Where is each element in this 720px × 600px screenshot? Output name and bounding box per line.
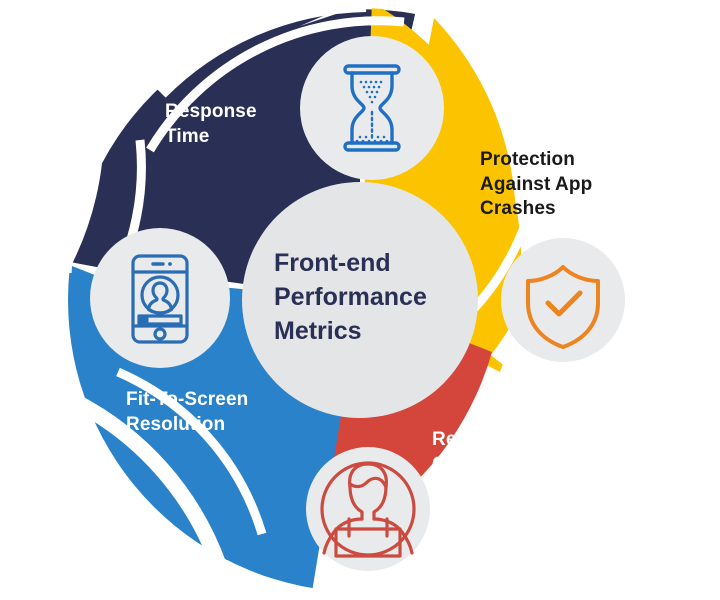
segment-label-response-time: Response Time [165,100,257,149]
infographic-container: Response Time Protection Against App Cra… [0,0,720,600]
icon-circle-smartphone[interactable] [90,228,230,368]
segment-label-fit-to-screen-resolution: Fit-To-Screen Resolution [126,388,248,437]
segment-label-resource-consumption: Resource Consumption [432,428,556,477]
segment-label-protection-against-app-crashes: Protection Against App Crashes [480,148,592,222]
icon-circle-shield[interactable] [501,238,625,362]
center-title: Front-end Performance Metrics [274,246,474,348]
icon-circle-worker[interactable] [306,447,430,571]
icon-circle-hourglass[interactable] [300,36,444,180]
